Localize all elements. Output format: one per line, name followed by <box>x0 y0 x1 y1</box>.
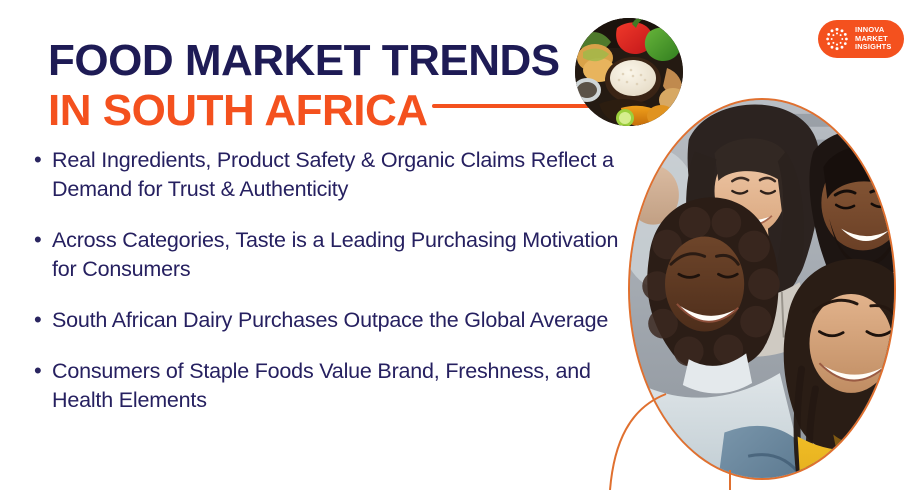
key-takeaways-list: • Real Ingredients, Product Safety & Org… <box>30 146 630 437</box>
title-line-2: IN SOUTH AFRICA <box>48 86 560 136</box>
bullet-marker-icon: • <box>30 146 52 174</box>
slide-canvas: FOOD MARKET TRENDS IN SOUTH AFRICA • Rea… <box>0 0 915 490</box>
list-item: • Real Ingredients, Product Safety & Org… <box>30 146 630 204</box>
photo-accent-tick <box>729 470 731 490</box>
list-item-label: Consumers of Staple Foods Value Brand, F… <box>52 357 622 415</box>
people-photo <box>628 98 896 480</box>
list-item: • Consumers of Staple Foods Value Brand,… <box>30 357 630 415</box>
title-connector-line <box>432 104 604 108</box>
innova-dot-ring-icon <box>824 26 850 52</box>
logo-wordmark: INNOVA MARKET INSIGHTS <box>855 26 892 52</box>
list-item-label: Across Categories, Taste is a Leading Pu… <box>52 226 622 284</box>
list-item: • South African Dairy Purchases Outpace … <box>30 306 630 335</box>
bullet-marker-icon: • <box>30 226 52 254</box>
innova-market-insights-logo[interactable]: INNOVA MARKET INSIGHTS <box>818 20 904 58</box>
title-line-1: FOOD MARKET TRENDS <box>48 36 560 86</box>
page-title: FOOD MARKET TRENDS IN SOUTH AFRICA <box>48 36 560 136</box>
logo-line-3: INSIGHTS <box>855 43 892 52</box>
list-item: • Across Categories, Taste is a Leading … <box>30 226 630 284</box>
food-photo-circle <box>575 18 683 126</box>
list-item-label: Real Ingredients, Product Safety & Organ… <box>52 146 622 204</box>
bullet-marker-icon: • <box>30 306 52 334</box>
list-item-label: South African Dairy Purchases Outpace th… <box>52 306 608 335</box>
bullet-marker-icon: • <box>30 357 52 385</box>
